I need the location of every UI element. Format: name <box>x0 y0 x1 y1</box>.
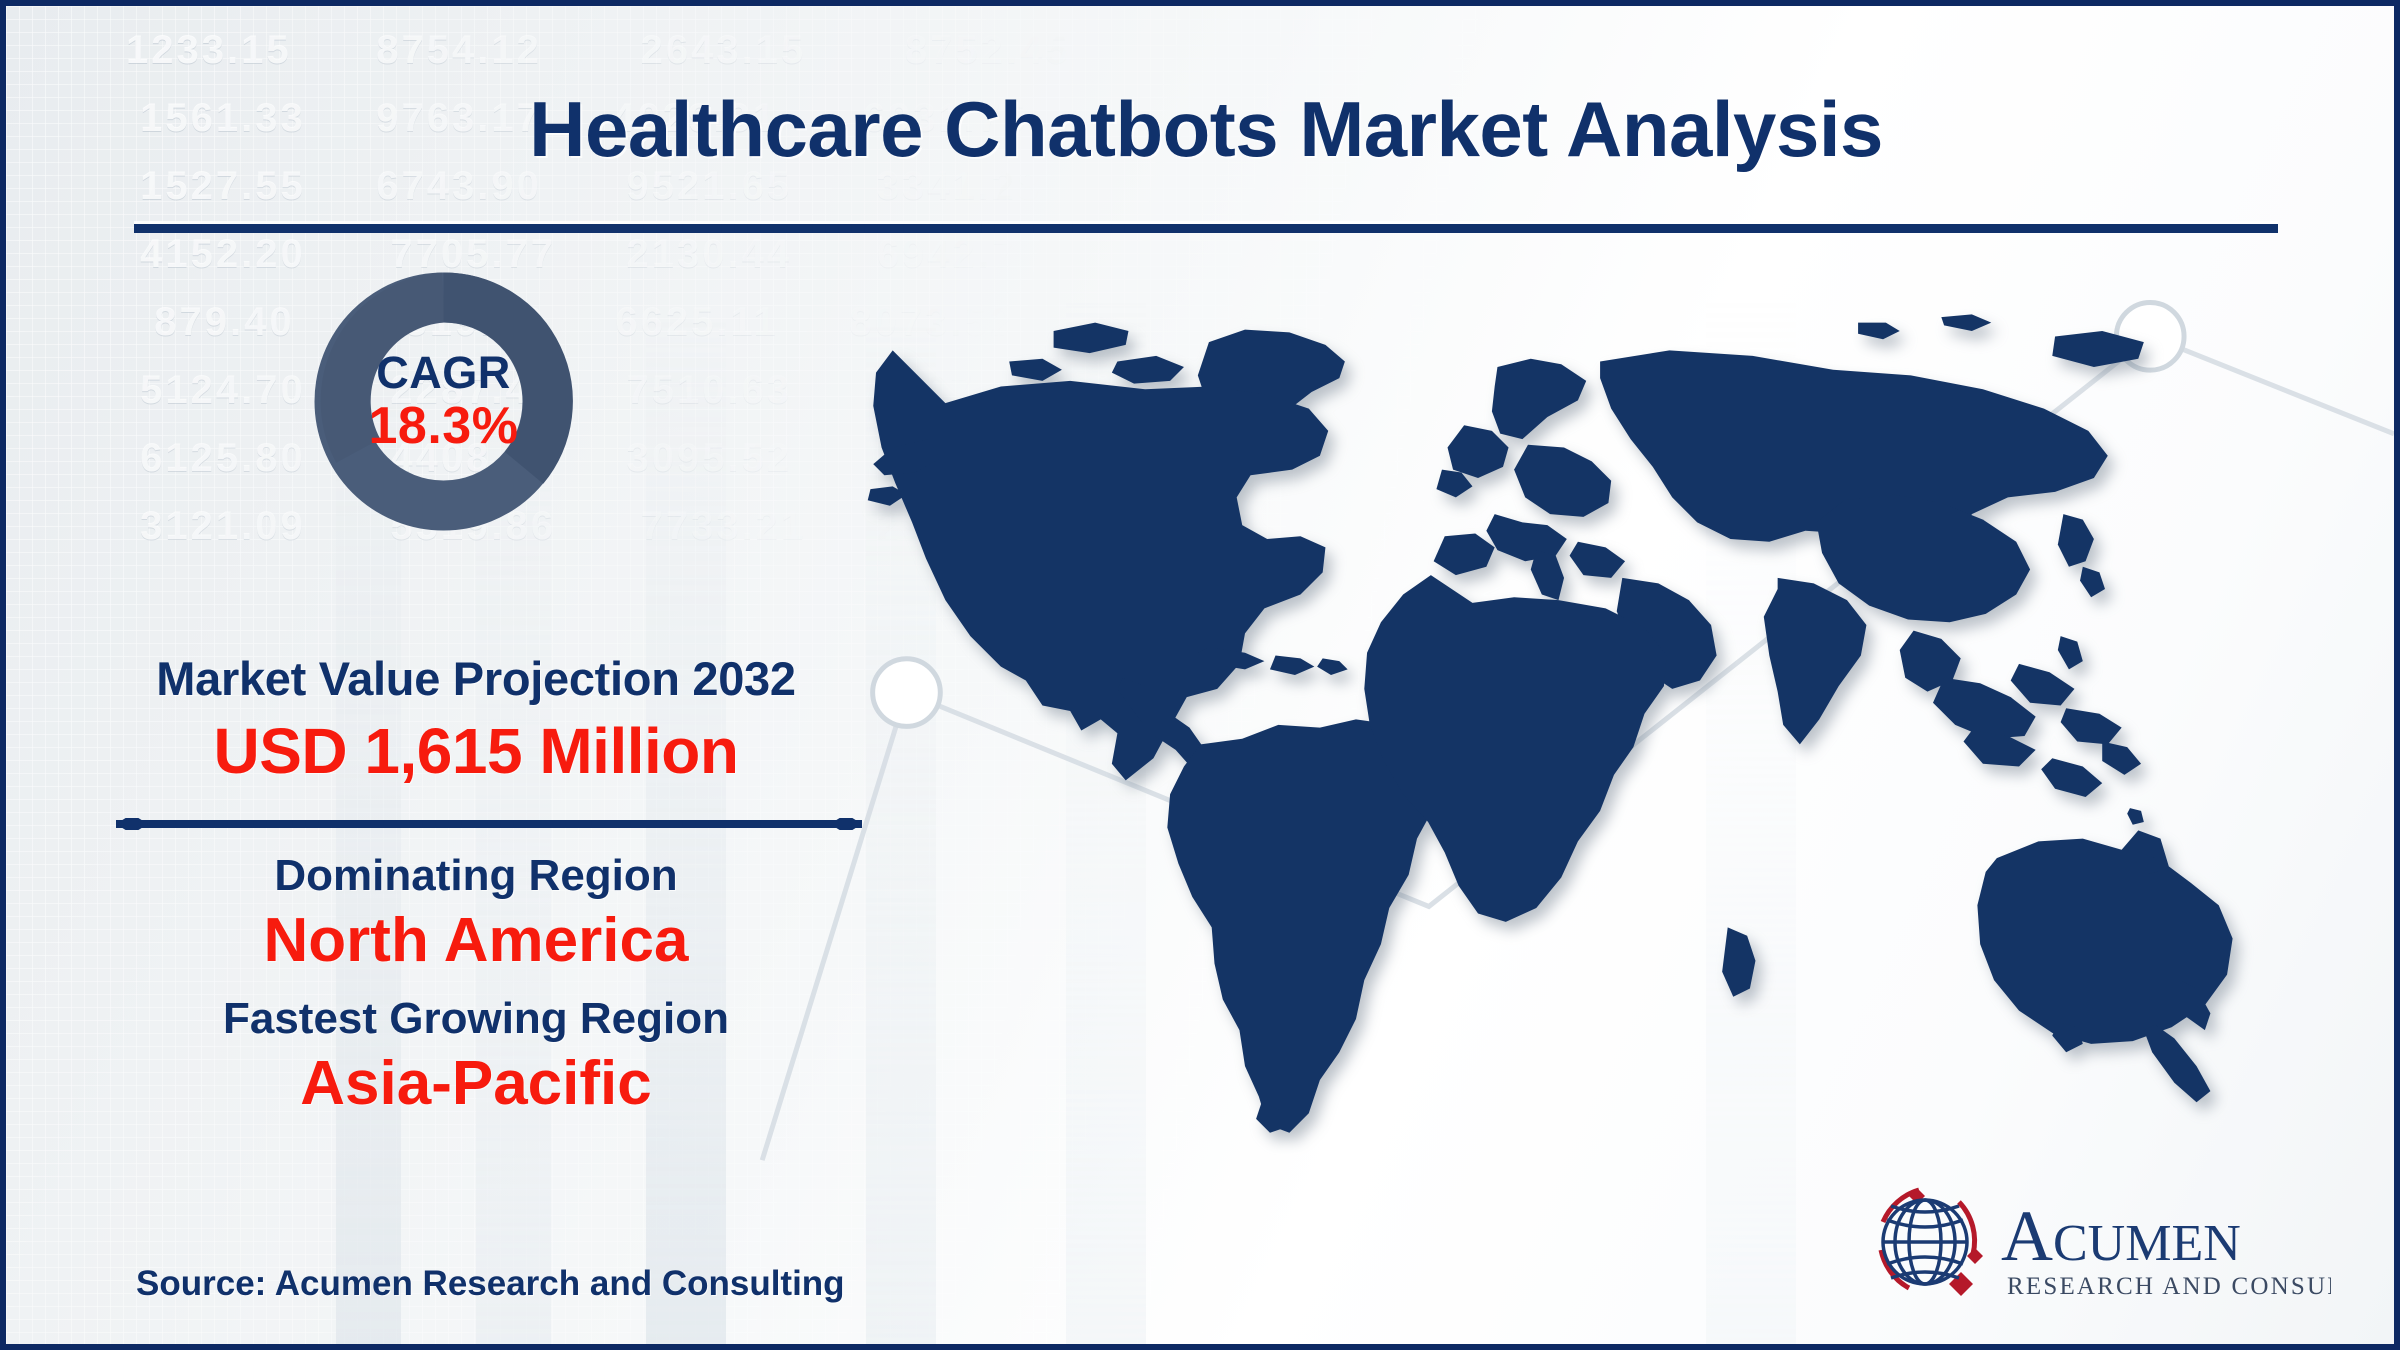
world-map-svg <box>836 306 2256 1166</box>
infographic-canvas: 1233.15 8754.12 2643.15 8752.45 1561.33 … <box>0 0 2400 1350</box>
dominating-region-value: North America <box>66 905 886 976</box>
donut-label: CAGR <box>376 350 511 396</box>
logo-wordmark-acumen: ACUMEN <box>2001 1196 2241 1276</box>
page-title: Healthcare Chatbots Market Analysis <box>6 84 2400 175</box>
market-value-caption: Market Value Projection 2032 <box>66 651 886 706</box>
stat-fastest-growing-region: Fastest Growing Region Asia-Pacific <box>66 994 886 1119</box>
landmass-japan <box>2058 514 2094 567</box>
source-credit: Source: Acumen Research and Consulting <box>136 1264 845 1304</box>
market-value-amount: USD 1,615 Million <box>66 714 886 788</box>
fastest-region-value: Asia-Pacific <box>66 1048 886 1119</box>
landmass-india <box>1764 578 1867 744</box>
landmass-madagascar <box>1722 927 1755 996</box>
stat-market-value: Market Value Projection 2032 USD 1,615 M… <box>66 651 886 788</box>
cagr-donut-chart: CAGR 18.3% <box>306 264 581 539</box>
landmass-new-zealand-south <box>2144 1025 2211 1103</box>
dominating-region-caption: Dominating Region <box>66 851 886 901</box>
acumen-logo-svg: ACUMEN RESEARCH AND CONSULTING <box>1861 1184 2331 1310</box>
donut-value: 18.3% <box>369 400 519 453</box>
logo-globe-icon <box>1883 1200 1967 1284</box>
landmass-scandinavia <box>1492 359 1586 439</box>
fastest-region-caption: Fastest Growing Region <box>66 994 886 1044</box>
world-map-graphic <box>836 306 2256 1166</box>
logo-tagline: RESEARCH AND CONSULTING <box>2007 1273 2331 1300</box>
donut-center-text: CAGR 18.3% <box>306 264 581 539</box>
acumen-logo: ACUMEN RESEARCH AND CONSULTING <box>1861 1184 2331 1310</box>
section-divider-arrow <box>94 818 884 830</box>
landmass-europe <box>1514 445 1611 517</box>
stat-dominating-region: Dominating Region North America <box>66 851 886 976</box>
landmass-north-america <box>873 350 1328 780</box>
title-underline-rule <box>134 224 2278 233</box>
